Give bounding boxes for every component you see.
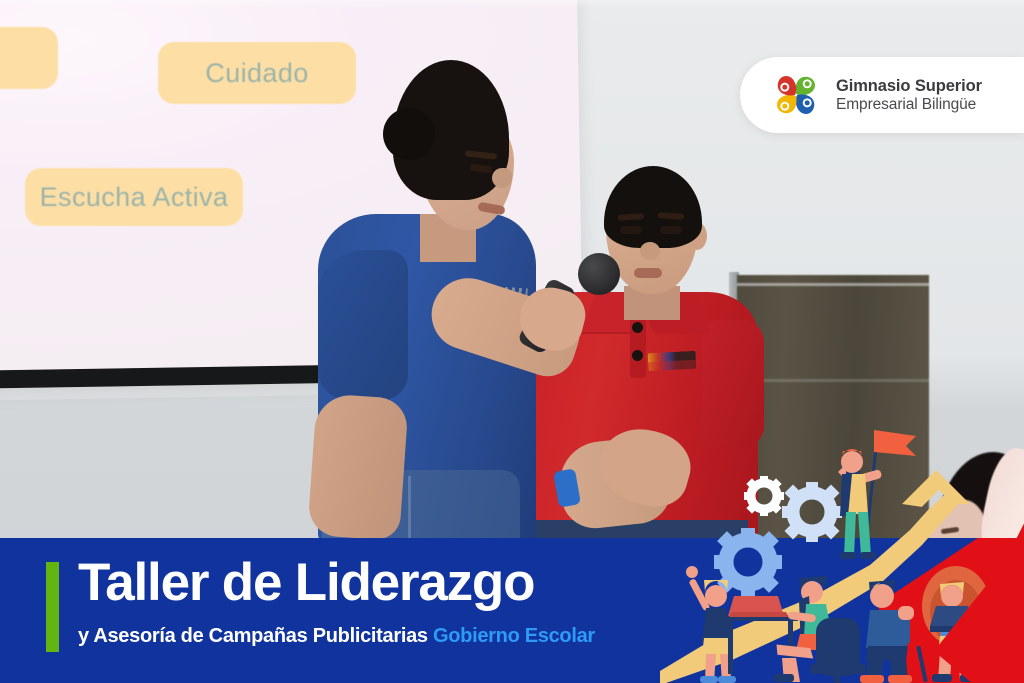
poster-canvas: Cuidado Escucha Activa <box>0 0 1024 683</box>
student-boy-eye <box>620 226 642 234</box>
presenter-sleeve <box>318 250 408 400</box>
gear-icon <box>782 482 842 542</box>
badge-text-block: Gimnasio Superior Empresarial Bilingüe <box>836 77 982 113</box>
banner-title: Taller de Liderazgo <box>78 556 534 609</box>
student-boy-nose <box>640 242 660 260</box>
microphone-head <box>578 253 620 295</box>
student-boy-button <box>632 350 643 361</box>
presenter-jeans-seam <box>408 476 411 546</box>
standing-person <box>860 580 914 683</box>
banner-subtitle-highlight: Gobierno Escolar <box>433 625 595 647</box>
banner-accent-bar <box>46 562 59 652</box>
banner-subtitle: y Asesoría de Campañas Publicitarias Gob… <box>78 625 595 648</box>
presenter-left-arm <box>307 393 409 541</box>
slide-chip-escucha-activa: Escucha Activa <box>25 168 243 226</box>
presenter-hair-bun <box>383 108 435 160</box>
badge-line-1: Gimnasio Superior <box>836 77 982 96</box>
student-boy-brow <box>658 212 684 219</box>
banner-subtitle-plain: y Asesoría de Campañas Publicitarias <box>78 625 428 647</box>
slide-chip-label: Cuidado <box>205 58 308 89</box>
school-logo-badge: Gimnasio Superior Empresarial Bilingüe <box>740 57 1024 133</box>
presenter-nose <box>492 168 512 188</box>
slide-chip-label: Escucha Activa <box>40 182 229 213</box>
gear-icon <box>714 528 782 596</box>
slide-chip-cuidado: Cuidado <box>158 42 356 104</box>
student-boy-eye <box>660 226 682 234</box>
pinwheel-people-logo-icon <box>768 67 824 123</box>
student-boy-button <box>632 322 643 333</box>
gear-icon <box>744 476 784 516</box>
badge-line-2: Empresarial Bilingüe <box>836 96 982 114</box>
school-crest-icon <box>648 351 697 371</box>
slide-chip-partial <box>0 27 58 89</box>
student-boy-mouth <box>634 268 662 278</box>
